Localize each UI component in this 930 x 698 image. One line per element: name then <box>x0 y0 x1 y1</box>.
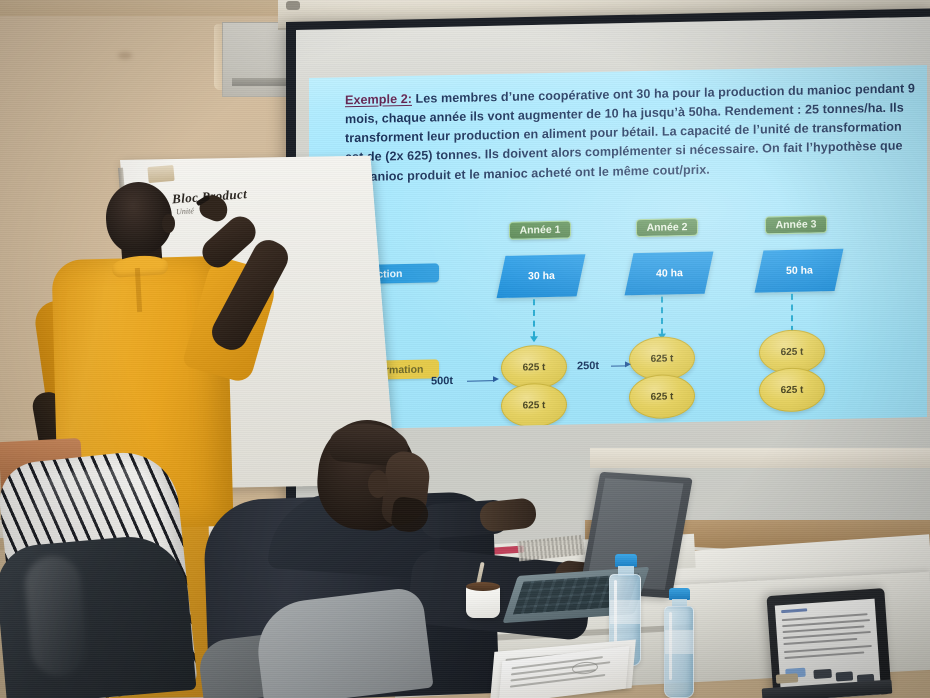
arrow-down-year-3 <box>791 294 793 332</box>
slide-body-paragraph: Les membres d’une coopérative ont 30 ha … <box>345 81 915 184</box>
laptop-right-doc-line <box>784 651 864 659</box>
arrow-down-year-2 <box>661 297 663 335</box>
flow-label-250t: 250t <box>577 360 599 372</box>
capacity-node-2b: 625 t <box>629 374 695 419</box>
laptop-right-doc-button[interactable] <box>813 669 832 679</box>
laptop-right-trackpad[interactable] <box>776 673 799 684</box>
bottle-small-shine <box>669 612 672 680</box>
capacity-node-2a-label: 625 t <box>651 353 674 364</box>
area-node-year-1: 30 ha <box>497 254 586 298</box>
capacity-node-2b-label: 625 t <box>651 391 674 402</box>
participant-ear <box>368 470 388 498</box>
laptop-right-doc-title <box>781 608 807 613</box>
year-badge-2-label: Année 2 <box>647 221 688 234</box>
bottle-large-shine <box>614 580 617 650</box>
year-badge-1-label: Année 1 <box>520 224 561 237</box>
arrow-down-year-1-head <box>530 336 538 342</box>
capacity-node-3a-label: 625 t <box>781 346 804 357</box>
ac-vent-grille <box>232 78 294 86</box>
area-node-year-3: 50 ha <box>755 249 844 293</box>
capacity-node-1b: 625 t <box>501 383 567 428</box>
flow-arrow-1-head <box>493 376 499 382</box>
area-node-2-label: 40 ha <box>656 267 683 280</box>
year-badge-3-label: Année 3 <box>776 218 817 231</box>
capacity-node-3b-label: 625 t <box>781 384 804 395</box>
flow-arrow-1 <box>467 380 495 382</box>
arrow-down-year-1 <box>533 299 535 337</box>
capacity-node-1b-label: 625 t <box>523 400 546 411</box>
flow-label-500t: 500t <box>431 375 453 387</box>
year-badge-2: Année 2 <box>636 218 698 237</box>
ceiling-strip <box>0 0 300 16</box>
area-node-3-label: 50 ha <box>786 264 813 277</box>
presenter-ear <box>162 214 175 233</box>
projected-slide: Exemple 2: Les membres d’une coopérative… <box>309 65 927 430</box>
year-badge-1: Année 1 <box>509 221 571 240</box>
laptop-right-doc-line <box>783 638 857 646</box>
flow-arrow-2-head <box>625 361 631 367</box>
capacity-node-1a-label: 625 t <box>523 362 546 373</box>
capacity-node-3b: 625 t <box>759 367 825 412</box>
wall-baseboard-right <box>590 448 930 468</box>
roller-end-cap <box>286 1 300 10</box>
flipchart-clip <box>147 165 174 183</box>
area-node-year-2: 40 ha <box>625 252 714 296</box>
slide-body-text: Exemple 2: Les membres d’une coopérative… <box>345 79 915 187</box>
coffee-cup-liquid <box>466 582 500 591</box>
wall-mark <box>118 52 132 59</box>
slide-example-label: Exemple 2: <box>345 92 412 107</box>
year-badge-3: Année 3 <box>765 215 827 234</box>
laptop-right-doc-line <box>783 631 871 640</box>
laptop-right-doc-button[interactable] <box>836 671 854 681</box>
paper-text-line <box>510 674 605 687</box>
area-node-1-label: 30 ha <box>528 270 555 283</box>
meeting-room-photo: Exemple 2: Les membres d’une coopérative… <box>0 0 930 698</box>
